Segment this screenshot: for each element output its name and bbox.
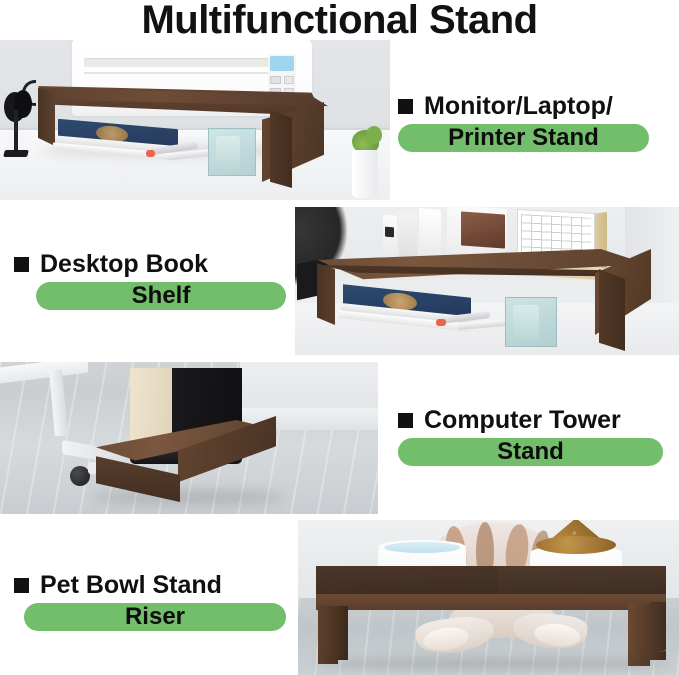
pet-stand-front-edge: [316, 594, 666, 610]
printer-seam-line: [84, 72, 282, 74]
feature-label-text: Desktop Book: [40, 250, 208, 279]
plant-pot: [352, 150, 378, 198]
headphone-stand-base: [3, 150, 29, 157]
feature-highlight-pill: Stand: [398, 438, 663, 466]
stand-shadow: [92, 490, 284, 504]
feature-label-book-shelf: Desktop Book Shelf: [14, 250, 290, 310]
feature-highlight-pill: Shelf: [36, 282, 286, 310]
feature-label-line1: Desktop Book: [14, 250, 290, 279]
feature-label-text: Computer Tower: [424, 406, 621, 435]
feature-label-text: Pet Bowl Stand: [40, 571, 222, 600]
feature-label-computer-tower-stand: Computer Tower Stand: [398, 406, 674, 466]
wooden-shelf-left-leg: [317, 263, 335, 325]
wooden-riser-left-leg: [38, 88, 55, 146]
pen-tip: [146, 150, 155, 157]
square-bullet-icon: [14, 578, 29, 593]
feature-highlight-text: Shelf: [132, 282, 191, 310]
printer-button: [270, 76, 281, 84]
printer-paper-slot: [84, 58, 284, 67]
pet-bowl-stand-photo: [298, 520, 679, 675]
feature-label-line1: Computer Tower: [398, 406, 674, 435]
pen-tip: [436, 319, 446, 326]
computer-tower-stand-photo: [0, 362, 378, 514]
feature-highlight-pill: Printer Stand: [398, 124, 649, 152]
pet-stand-left-leg-inner: [338, 606, 348, 660]
kibble-top: [536, 536, 616, 554]
feature-label-pet-bowl-stand: Pet Bowl Stand Riser: [14, 571, 290, 631]
desktop-book-shelf-photo: [295, 207, 679, 355]
product-feature-infographic: Multifunctional Stand: [0, 0, 679, 675]
printer-on-stand-photo: [0, 40, 390, 200]
feature-highlight-text: Printer Stand: [448, 124, 599, 152]
feature-highlight-pill: Riser: [24, 603, 286, 631]
storage-box-contents: [216, 136, 240, 170]
pet-stand-top-left: [316, 566, 498, 596]
feature-label-text: Monitor/Laptop/: [424, 92, 613, 121]
book-spine-mark: [385, 227, 394, 238]
caster-wheel: [70, 466, 90, 486]
square-bullet-icon: [14, 257, 29, 272]
printer-screen: [270, 56, 294, 71]
pet-stand-right-leg: [628, 604, 650, 666]
stand-shadow: [314, 658, 670, 670]
feature-label-line1: Pet Bowl Stand: [14, 571, 290, 600]
plant-leaves: [366, 126, 382, 144]
feature-label-printer-stand: Monitor/Laptop/ Printer Stand: [398, 92, 674, 152]
headphone-stand-pole: [14, 110, 18, 152]
page-title: Multifunctional Stand: [0, 0, 679, 42]
wooden-shelf-right-leg: [599, 269, 625, 351]
calendar-grid: [521, 214, 591, 256]
pet-stand-top-right: [498, 566, 666, 596]
feature-label-line1: Monitor/Laptop/: [398, 92, 674, 121]
square-bullet-icon: [398, 413, 413, 428]
storage-box-contents: [513, 305, 539, 341]
printer-button: [284, 76, 294, 84]
water-surface: [384, 542, 460, 553]
square-bullet-icon: [398, 99, 413, 114]
pet-stand-left-leg: [318, 606, 338, 664]
feature-highlight-text: Riser: [125, 603, 185, 631]
standing-book: [383, 214, 397, 263]
book-cover-image: [461, 211, 505, 248]
wooden-riser-right-leg: [270, 110, 292, 188]
feature-highlight-text: Stand: [497, 438, 564, 466]
